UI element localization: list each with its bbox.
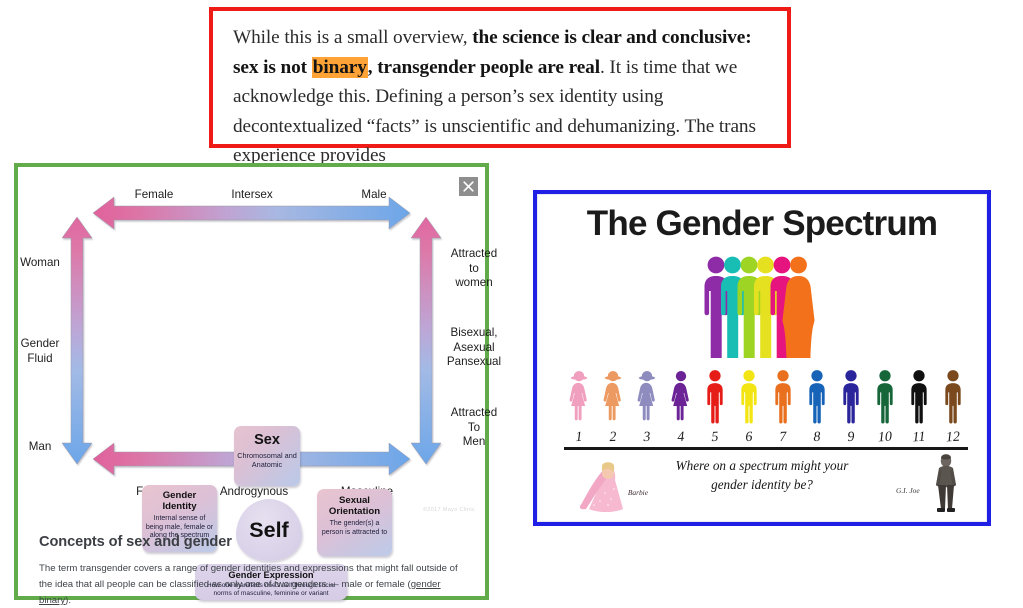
spectrum-figure-6 [732,369,766,425]
spectrum-figure-11 [902,369,936,425]
rainbow-people-group-graphic [697,253,827,361]
attracted-men-line1: Attracted [451,406,497,419]
spectrum-number-12: 12 [936,429,971,447]
caption-title: Concepts of sex and gender [39,534,471,550]
node-sex-subtitle: Chromosomal and Anatomic [237,452,297,470]
spectrum-number-2: 2 [596,429,631,447]
figure-4-female-icon [669,369,693,425]
figure-6-male-icon [737,369,761,425]
gender-spectrum-panel: The Gender Spectrum 123456789101112 [533,190,991,526]
spectrum-figure-3 [630,369,664,425]
axis-label-androgynous: Androgynous [208,485,300,500]
figure-7-male-icon [771,369,795,425]
gender-spectrum-title: The Gender Spectrum [538,204,986,244]
spectrum-figure-5 [698,369,732,425]
axis-label-bisexual-asexual-pansexual: Bisexual, Asexual Pansexual [439,326,509,370]
figure-5-male-icon [703,369,727,425]
quote-text: While this is a small overview, the scie… [233,23,769,171]
bi-line1: Bisexual, [450,326,497,339]
figure-8-male-icon [805,369,829,425]
spectrum-figure-9 [834,369,868,425]
axis-label-male: Male [336,188,412,203]
copyright-notice: ©2017 Mayo Clinic [423,507,475,513]
spectrum-figure-10 [868,369,902,425]
node-sexual-orientation-title: Sexual Orientation [320,496,389,517]
bi-line2: Asexual [453,341,494,354]
figure-10-male-icon [873,369,897,425]
screenshot-root: While this is a small overview, the scie… [0,0,1023,608]
figure-11-male-icon [907,369,931,425]
rainbow-person-6 [783,257,815,358]
attracted-women-line1: Attracted [451,247,497,260]
axis-label-man: Man [18,440,62,455]
caption-body-part1: The term transgender covers a range of g… [39,563,458,590]
gi-joe-figure-svg [896,451,976,517]
attracted-men-line2: To [468,421,480,434]
sex-and-gender-diagram-panel: Female Intersex Male Feminine Androgynou… [14,163,489,600]
caption-body-part2: ). [65,595,71,606]
quote-callout-box: While this is a small overview, the scie… [209,7,791,148]
spectrum-figures-row [562,367,970,425]
gender-fluid-line2: Fluid [27,352,52,365]
spectrum-number-3: 3 [630,429,665,447]
figure-9-male-icon [839,369,863,425]
spectrum-number-11: 11 [902,429,937,447]
gender-fluid-line1: Gender [21,337,60,350]
axis-label-woman: Woman [18,256,62,271]
spectrum-number-4: 4 [664,429,699,447]
node-sex-title: Sex [237,432,297,448]
spectrum-number-7: 7 [766,429,801,447]
spectrum-figure-2 [596,369,630,425]
axis-label-attracted-to-women: Attracted to women [442,247,506,291]
spectrum-number-1: 1 [562,429,597,447]
spectrum-question: Where on a spectrum might your gender id… [637,456,887,494]
spectrum-number-5: 5 [698,429,733,447]
figure-2-female-icon [601,369,625,425]
spectrum-figure-8 [800,369,834,425]
spectrum-baseline-rule [564,447,968,450]
spectrum-question-line2: gender identity be? [711,477,813,492]
node-gender-identity-title: Gender Identity [145,491,214,512]
diagram-caption: Concepts of sex and gender The term tran… [39,534,471,608]
quote-highlight-binary: binary [312,57,368,78]
spectrum-question-line1: Where on a spectrum might your [676,458,849,473]
attracted-men-line3: Men [463,435,486,448]
figure-1-female-icon [567,369,591,425]
right-panel-inner: The Gender Spectrum 123456789101112 [537,194,987,522]
figure-3-female-icon [635,369,659,425]
gi-joe-illustration: G.I. Joe [896,451,976,517]
axis-label-gender-fluid: Gender Fluid [18,337,62,366]
spectrum-figure-12 [936,369,970,425]
bi-line3: Pansexual [447,355,501,368]
attracted-women-line2: to [469,262,479,275]
spectrum-number-9: 9 [834,429,869,447]
caption-body: The term transgender covers a range of g… [39,561,471,608]
rainbow-people-svg [697,253,827,361]
axis-label-attracted-to-men: Attracted To Men [442,406,506,450]
spectrum-figure-1 [562,369,596,425]
axis-label-female: Female [116,188,192,203]
quote-plain-segment-0: While this is a small overview, [233,27,472,48]
spectrum-number-10: 10 [868,429,903,447]
axis-label-intersex: Intersex [214,188,290,203]
gender-concepts-diagram: Female Intersex Male Feminine Androgynou… [18,167,485,522]
attracted-women-line3: women [455,276,492,289]
left-panel-inner: Female Intersex Male Feminine Androgynou… [18,167,485,596]
figure-12-male-icon [941,369,965,425]
spectrum-figure-4 [664,369,698,425]
node-sex: Sex Chromosomal and Anatomic [234,426,300,486]
spectrum-number-6: 6 [732,429,767,447]
gender-identity-arrow [62,217,92,464]
spectrum-number-scale: 123456789101112 [562,428,970,446]
spectrum-figure-7 [766,369,800,425]
quote-bold-segment-3: , transgender people are real [368,57,600,78]
sexual-orientation-arrow [411,217,441,464]
spectrum-number-8: 8 [800,429,835,447]
